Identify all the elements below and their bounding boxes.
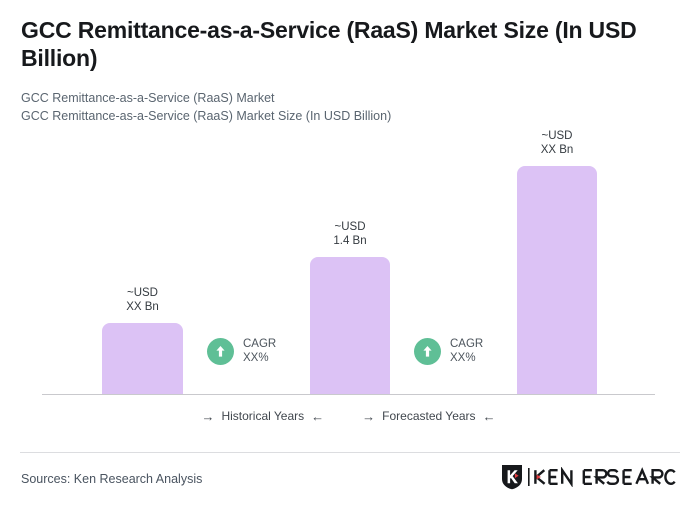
cagr-text-1: CAGR XX% [243,337,276,365]
bar-group-3[interactable]: ~USD XX Bn [517,166,597,394]
footer: Sources: Ken Research Analysis [21,464,680,494]
page-title: GCC Remittance-as-a-Service (RaaS) Marke… [21,16,671,72]
bar-group-1[interactable]: ~USD XX Bn [102,323,183,394]
axis-segment-historical: → Historical Years ← [201,409,324,423]
chart-page: GCC Remittance-as-a-Service (RaaS) Marke… [0,0,700,520]
ken-research-logo [501,464,680,495]
bar-label-2-line1: ~USD [333,220,366,234]
ken-research-wordmark [528,467,680,492]
cagr-badge-2[interactable]: CAGR XX% [414,337,483,365]
bar-label-1: ~USD XX Bn [126,286,159,314]
bar-label-3: ~USD XX Bn [541,129,574,157]
bar-label-3-line1: ~USD [541,129,574,143]
cagr-value-2: XX% [450,351,483,365]
sources-text: Sources: Ken Research Analysis [21,472,202,486]
bar-3[interactable] [517,166,597,394]
axis-segment-historical-label: Historical Years [221,409,304,423]
axis-legend: → Historical Years ← → Forecasted Years … [42,409,655,423]
axis-segment-forecasted: → Forecasted Years ← [362,409,495,423]
arrow-left-icon: ← [311,410,324,423]
subtitle-market-size: GCC Remittance-as-a-Service (RaaS) Marke… [21,107,671,125]
axis-baseline [42,394,655,395]
arrow-right-icon: → [362,410,375,423]
subtitle-market: GCC Remittance-as-a-Service (RaaS) Marke… [21,89,671,107]
bar-label-3-line2: XX Bn [541,143,574,157]
cagr-value-1: XX% [243,351,276,365]
shield-k-icon [501,464,523,495]
cagr-badge-1[interactable]: CAGR XX% [207,337,276,365]
arrow-right-icon: → [201,410,214,423]
arrow-up-icon [207,338,234,365]
subtitle-block: GCC Remittance-as-a-Service (RaaS) Marke… [21,89,671,125]
bar-label-1-line2: XX Bn [126,300,159,314]
bar-label-2-line2: 1.4 Bn [333,234,366,248]
cagr-text-2: CAGR XX% [450,337,483,365]
arrow-up-icon [414,338,441,365]
bar-1[interactable] [102,323,183,394]
footer-divider [20,452,680,453]
axis-segment-forecasted-label: Forecasted Years [382,409,475,423]
bar-group-2[interactable]: ~USD 1.4 Bn [310,257,390,394]
cagr-label-1: CAGR [243,337,276,351]
bar-label-1-line1: ~USD [126,286,159,300]
chart-header: GCC Remittance-as-a-Service (RaaS) Marke… [21,16,671,125]
cagr-label-2: CAGR [450,337,483,351]
bar-2[interactable] [310,257,390,394]
bar-label-2: ~USD 1.4 Bn [333,220,366,248]
arrow-left-icon: ← [483,410,496,423]
